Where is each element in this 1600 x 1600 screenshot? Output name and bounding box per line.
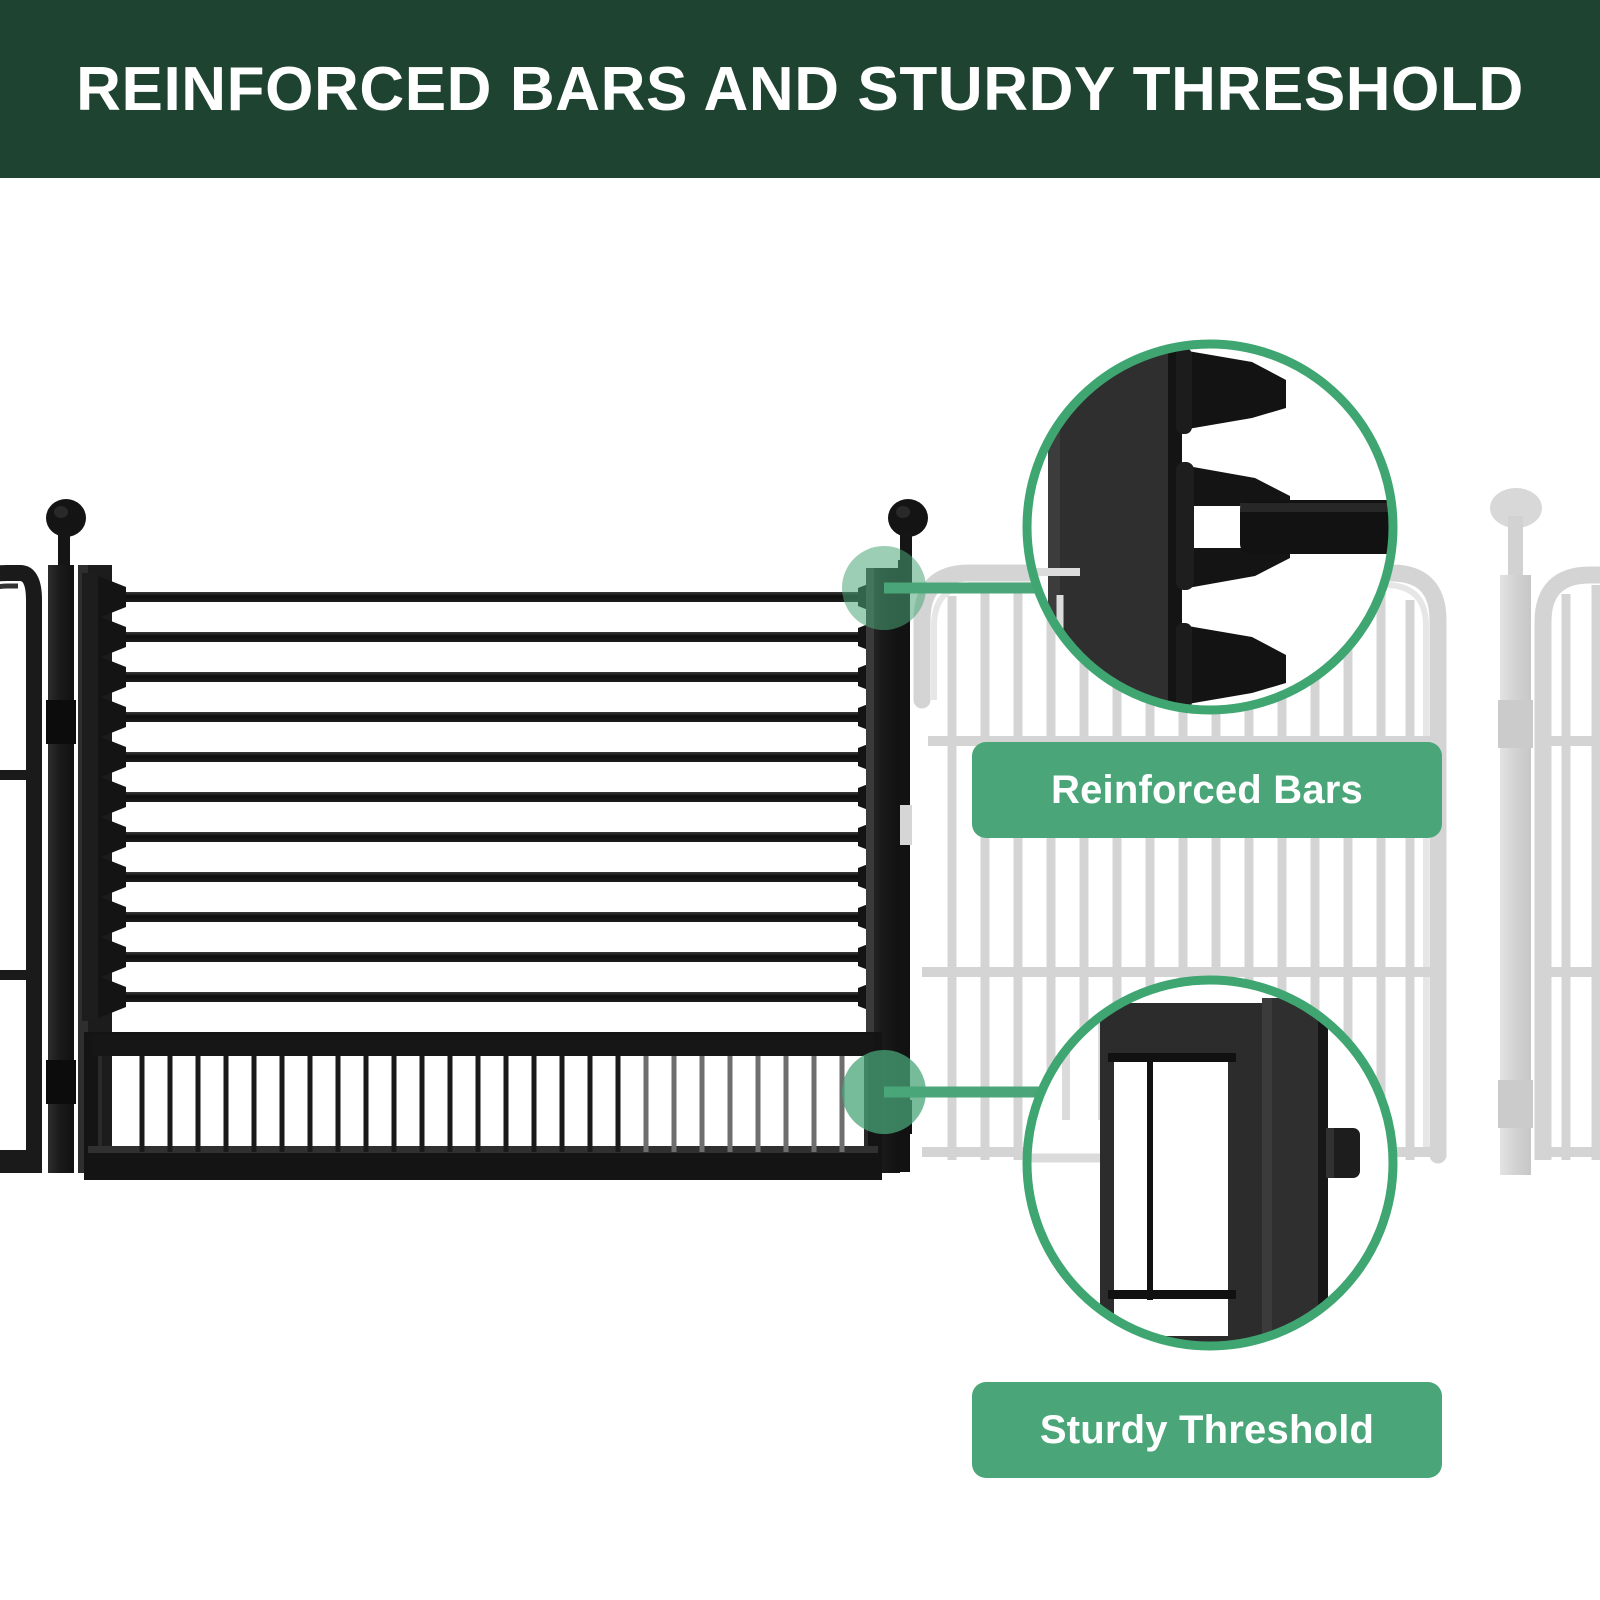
sturdy-threshold-panel [88,1034,878,1172]
anchor-dot-icon-bottom [842,1050,926,1134]
callout-label-sturdy-threshold: Sturdy Threshold [972,1382,1442,1478]
screenshot-root: REINFORCED BARS AND STURDY THRESHOLD Rei… [0,0,1600,1600]
callout-label-reinforced-bars: Reinforced Bars [972,742,1442,838]
highlighted-gate-panel [0,499,928,1173]
page-title: REINFORCED BARS AND STURDY THRESHOLD [0,0,1600,178]
magnifier-circle-icon-reinforced-bars [1010,300,1420,760]
ghost-post [1490,488,1542,1175]
reinforced-bars-group [82,573,886,1021]
magnifier-circle-icon-sturdy-threshold [1000,960,1393,1366]
anchor-dot-icon-top [842,546,926,630]
left-neighbor-frame [0,573,34,1165]
